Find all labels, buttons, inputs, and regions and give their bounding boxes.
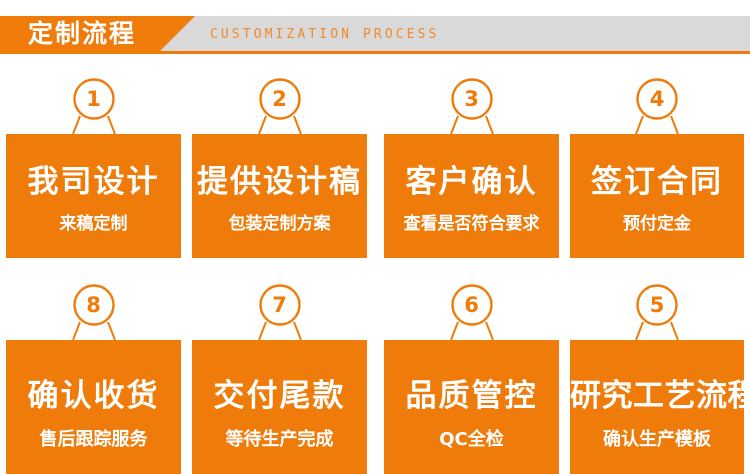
step-number-badge-icon: 2 <box>249 78 311 136</box>
step-number-badge-icon: 3 <box>441 78 503 136</box>
step-title: 客户确认 <box>384 156 559 201</box>
process-row-top: 1 我司设计 来稿定制 2 提供设计稿 包装定制方案 3 <box>0 78 750 258</box>
step-subtitle: 等待生产完成 <box>192 425 367 451</box>
step-subtitle: QC全检 <box>384 425 559 451</box>
step-title: 提供设计稿 <box>192 156 367 201</box>
step-number: 8 <box>63 284 125 326</box>
step-title: 研究工艺流程 <box>570 370 744 415</box>
step-panel: 我司设计 来稿定制 <box>6 134 181 258</box>
step-panel: 交付尾款 等待生产完成 <box>192 340 367 474</box>
step-number: 7 <box>249 284 311 326</box>
page-title-cn: 定制流程 <box>28 17 136 51</box>
step-number: 6 <box>441 284 503 326</box>
step-title: 确认收货 <box>6 370 181 415</box>
step-panel: 确认收货 售后跟踪服务 <box>6 340 181 474</box>
step-number-badge-icon: 8 <box>63 284 125 342</box>
step-panel: 签订合同 预付定金 <box>570 134 744 258</box>
section-header: 定制流程 CUSTOMIZATION PROCESS <box>0 16 750 54</box>
process-row-bottom: 8 确认收货 售后跟踪服务 7 交付尾款 等待生产完成 <box>0 284 750 474</box>
step-number-badge-icon: 5 <box>626 284 688 342</box>
step-number: 4 <box>626 78 688 120</box>
step-panel: 客户确认 查看是否符合要求 <box>384 134 559 258</box>
step-number: 1 <box>63 78 125 120</box>
step-panel: 提供设计稿 包装定制方案 <box>192 134 367 258</box>
header-underline <box>0 51 750 54</box>
step-subtitle: 包装定制方案 <box>192 209 367 234</box>
step-title: 签订合同 <box>570 156 744 201</box>
page-title-en: CUSTOMIZATION PROCESS <box>210 17 439 51</box>
step-number: 5 <box>626 284 688 326</box>
step-subtitle: 预付定金 <box>570 209 744 234</box>
step-subtitle: 查看是否符合要求 <box>384 209 559 234</box>
step-panel: 品质管控 QC全检 <box>384 340 559 474</box>
step-title: 交付尾款 <box>192 370 367 415</box>
step-subtitle: 确认生产模板 <box>570 425 744 451</box>
step-number: 3 <box>441 78 503 120</box>
step-title: 我司设计 <box>6 156 181 201</box>
step-subtitle: 来稿定制 <box>6 209 181 234</box>
step-number-badge-icon: 1 <box>63 78 125 136</box>
step-subtitle: 售后跟踪服务 <box>6 425 181 451</box>
step-number-badge-icon: 7 <box>249 284 311 342</box>
step-panel: 研究工艺流程 确认生产模板 <box>570 340 744 474</box>
step-title: 品质管控 <box>384 370 559 415</box>
step-number-badge-icon: 6 <box>441 284 503 342</box>
step-number-badge-icon: 4 <box>626 78 688 136</box>
step-number: 2 <box>249 78 311 120</box>
